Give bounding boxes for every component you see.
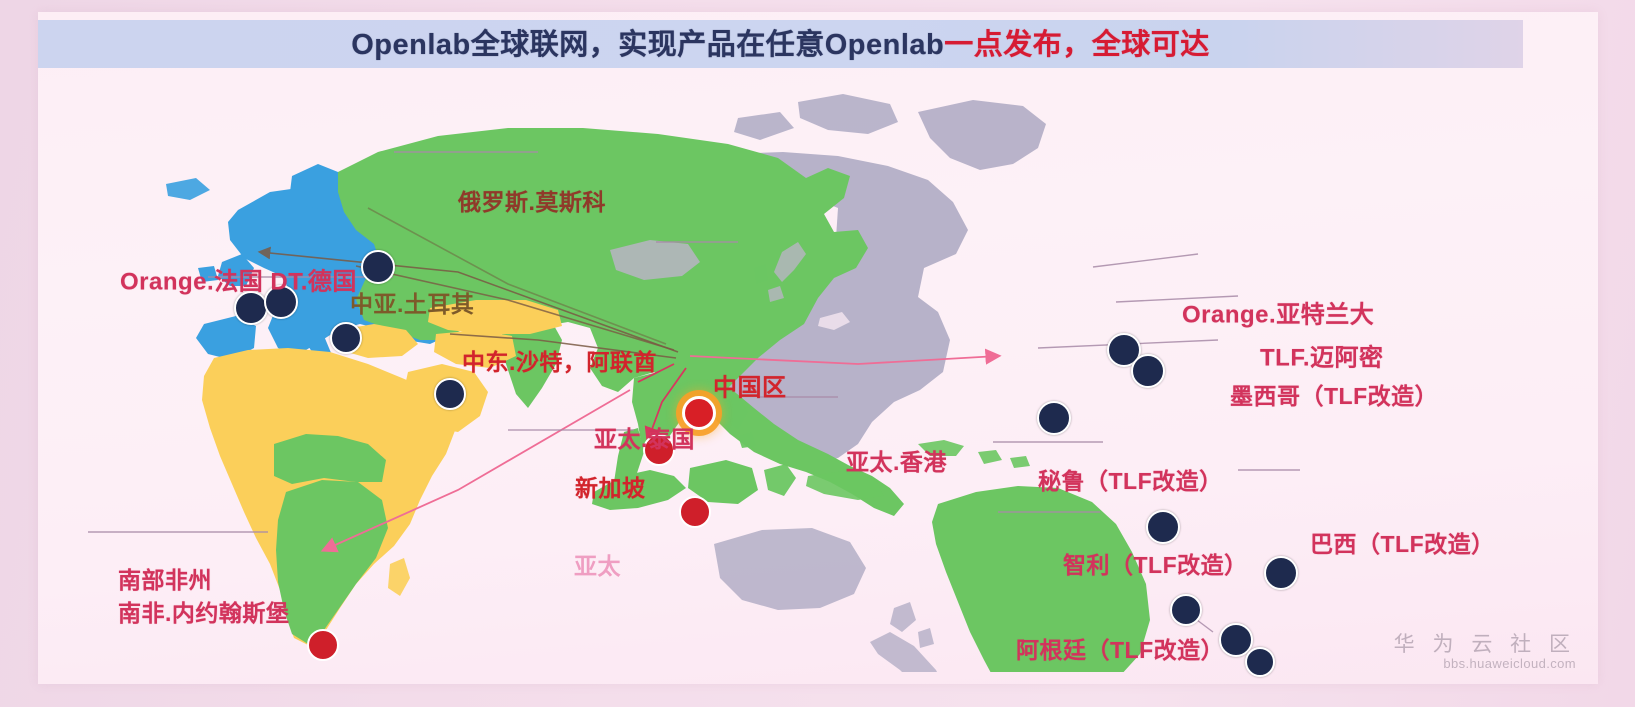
marker-peru[interactable] <box>1146 510 1180 544</box>
marker-brazil[interactable] <box>1264 556 1298 590</box>
label-peru: 秘鲁（TLF改造） <box>1038 462 1223 496</box>
marker-moscow[interactable] <box>361 250 395 284</box>
label-central-asia-turkey: 中亚.土耳其 <box>350 285 474 319</box>
label-tlf-miami: TLF.迈阿密 <box>1260 338 1384 373</box>
greenland-shape <box>918 100 1046 170</box>
label-brazil: 巴西（TLF改造） <box>1310 525 1495 559</box>
label-southern-africa: 南部非州 <box>118 561 212 595</box>
page-title-dark-part: Openlab全球联网，实现产品在任意Openlab <box>351 29 944 61</box>
page-title: Openlab全球联网，实现产品在任意Openlab一点发布，全球可达 <box>38 22 1523 68</box>
marker-riyadh[interactable] <box>434 378 466 410</box>
marker-istanbul[interactable] <box>330 322 362 354</box>
leader-atlanta <box>1093 254 1198 267</box>
iceland-shape <box>166 178 210 200</box>
label-orange-france-dt-germany: Orange.法国 DT.德国 <box>120 262 357 297</box>
label-chile: 智利（TLF改造） <box>1063 546 1248 580</box>
marker-singapore[interactable] <box>679 496 711 528</box>
label-apac-thailand: 亚太.泰国 <box>594 420 695 454</box>
madagascar-shape <box>388 558 410 596</box>
marker-chile[interactable] <box>1170 594 1202 626</box>
landmass-group <box>166 94 1150 672</box>
marker-mexico[interactable] <box>1037 401 1071 435</box>
world-map-container: 俄罗斯.莫斯科 Orange.法国 DT.德国 中亚.土耳其 中东.沙特，阿联酋… <box>38 72 1598 672</box>
australia-shape <box>714 528 866 610</box>
label-russia-moscow: 俄罗斯.莫斯科 <box>458 183 606 217</box>
label-mideast-saudi-uae: 中东.沙特，阿联酋 <box>462 343 657 377</box>
label-south-africa-johannesburg: 南非.内约翰斯堡 <box>118 594 289 628</box>
marker-johannesburg[interactable] <box>307 629 339 661</box>
arctic-islands-shape <box>734 94 898 140</box>
watermark-url: bbs.huaweicloud.com <box>1394 657 1576 672</box>
label-argentina: 阿根廷（TLF改造） <box>1016 631 1224 665</box>
watermark: 华 为 云 社 区 bbs.huaweicloud.com <box>1394 633 1576 672</box>
page-title-red-part: 一点发布，全球可达 <box>944 29 1210 61</box>
watermark-name: 华 为 云 社 区 <box>1394 633 1576 657</box>
label-apac: 亚太 <box>574 547 621 581</box>
label-singapore: 新加坡 <box>575 469 646 503</box>
label-orange-atlanta: Orange.亚特兰大 <box>1182 295 1374 330</box>
marker-miami[interactable] <box>1131 354 1165 388</box>
indonesia-sulawesi-shape <box>764 464 796 496</box>
label-apac-hongkong: 亚太.香港 <box>846 443 947 477</box>
label-china-region: 中国区 <box>713 368 787 403</box>
screenshot-stage: Openlab全球联网，实现产品在任意Openlab一点发布，全球可达 <box>0 0 1635 707</box>
label-mexico: 墨西哥（TLF改造） <box>1230 377 1438 411</box>
marker-argentina-south[interactable] <box>1245 647 1275 677</box>
presentation-slide: Openlab全球联网，实现产品在任意Openlab一点发布，全球可达 <box>38 12 1598 684</box>
antarctic-peninsula-shape <box>870 632 950 672</box>
